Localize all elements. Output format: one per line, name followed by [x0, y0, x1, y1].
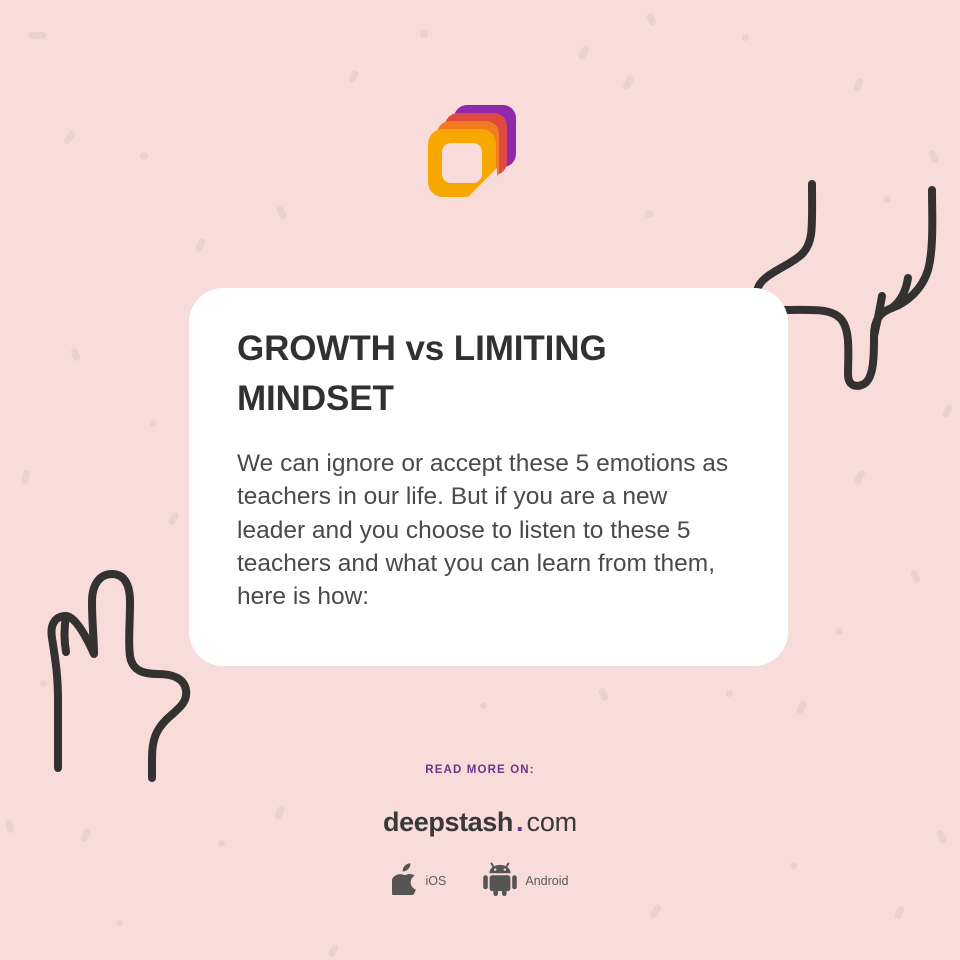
store-label-android: Android — [525, 875, 568, 888]
store-label-ios: iOS — [426, 875, 447, 888]
deepstash-wordmark[interactable]: deepstash.com — [0, 809, 960, 836]
background-speck — [853, 469, 866, 486]
background-speck — [20, 469, 31, 484]
poster-canvas: GROWTH vs LIMITING MINDSET We can ignore… — [0, 0, 960, 960]
read-more-label: READ MORE ON: — [0, 765, 960, 777]
page-title: GROWTH vs LIMITING MINDSET — [237, 324, 740, 423]
background-speck — [795, 699, 807, 715]
hand-pointing-up-illustration — [24, 562, 204, 780]
background-speck — [646, 12, 658, 27]
background-speck — [622, 74, 636, 90]
background-speck — [275, 205, 287, 221]
background-speck — [942, 403, 954, 419]
background-speck — [927, 149, 939, 164]
background-speck — [480, 702, 487, 709]
background-speck — [62, 129, 77, 145]
content-card: GROWTH vs LIMITING MINDSET We can ignore… — [189, 288, 788, 666]
background-speck — [910, 569, 921, 584]
logo-inner-hole — [442, 143, 482, 183]
background-speck — [836, 628, 843, 635]
footer: READ MORE ON: deepstash.com iOS — [0, 765, 960, 901]
background-speck — [894, 905, 906, 920]
background-speck — [70, 347, 81, 362]
background-speck — [140, 152, 148, 160]
background-speck — [577, 45, 590, 61]
background-speck — [150, 420, 157, 427]
android-icon — [482, 862, 518, 901]
background-speck — [645, 210, 653, 218]
background-speck — [116, 920, 123, 927]
store-badge-android[interactable]: Android — [482, 862, 568, 901]
background-speck — [420, 30, 428, 38]
background-speck — [852, 77, 864, 93]
background-speck — [327, 943, 339, 958]
logo-layer-amber — [428, 129, 496, 197]
background-speck — [348, 69, 360, 84]
background-speck — [195, 237, 207, 253]
wordmark-dot: . — [513, 807, 527, 837]
background-speck — [167, 511, 180, 526]
app-store-badges: iOS — [0, 862, 960, 901]
wordmark-tld: com — [527, 807, 577, 837]
background-speck — [726, 690, 733, 697]
background-speck — [598, 687, 610, 702]
wordmark-name: deepstash — [383, 807, 513, 837]
background-speck — [742, 34, 749, 41]
background-speck — [28, 32, 46, 39]
card-body-text: We can ignore or accept these 5 emotions… — [237, 447, 740, 612]
apple-icon — [392, 863, 419, 900]
background-speck — [649, 903, 663, 919]
store-badge-ios[interactable]: iOS — [392, 863, 447, 900]
deepstash-logo — [428, 105, 518, 197]
